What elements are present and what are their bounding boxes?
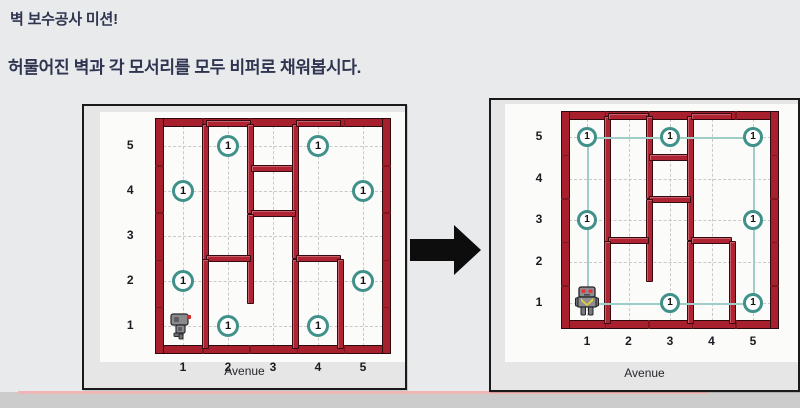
maze-wall-horizontal xyxy=(691,113,733,120)
beeper[interactable]: 1 xyxy=(352,180,374,202)
street-tick: 3 xyxy=(122,228,138,242)
beeper[interactable]: 1 xyxy=(307,135,329,157)
beeper[interactable]: 1 xyxy=(660,293,680,313)
karel-world-before: Street Avenue 111111111234554321 xyxy=(82,104,407,390)
wall-brick-mark xyxy=(155,212,164,213)
right-arrow-icon xyxy=(410,222,482,278)
boundary-wall-left xyxy=(561,111,570,328)
avenue-tick: 3 xyxy=(265,360,281,374)
beeper[interactable]: 1 xyxy=(172,180,194,202)
boundary-wall-top xyxy=(155,118,391,127)
maze-wall-vertical xyxy=(687,116,694,241)
wall-brick-mark xyxy=(561,198,570,199)
transition-arrow xyxy=(410,222,482,278)
avenue-tick: 4 xyxy=(310,360,326,374)
maze-wall-horizontal xyxy=(296,120,341,127)
wall-brick-mark xyxy=(770,198,779,199)
avenue-tick: 2 xyxy=(621,334,637,348)
boundary-wall-right xyxy=(382,118,391,354)
avenue-tick: 1 xyxy=(579,334,595,348)
street-tick: 1 xyxy=(122,318,138,332)
robot-side-icon xyxy=(170,312,196,340)
maze-wall-horizontal xyxy=(691,237,733,244)
wall-brick-mark xyxy=(561,285,570,286)
maze-wall-horizontal xyxy=(251,210,296,217)
gridline-horizontal xyxy=(564,179,776,180)
maze-wall-vertical xyxy=(292,124,299,259)
gridline-horizontal xyxy=(564,262,776,263)
wall-brick-mark xyxy=(382,260,391,261)
beeper[interactable]: 1 xyxy=(217,135,239,157)
maze-wall-horizontal xyxy=(649,154,691,161)
maze-wall-horizontal xyxy=(206,255,251,262)
wall-brick-mark xyxy=(155,307,164,308)
wall-brick-mark xyxy=(648,320,649,329)
beeper[interactable]: 1 xyxy=(743,293,763,313)
wall-brick-mark xyxy=(382,212,391,213)
maze-wall-horizontal xyxy=(649,196,691,203)
boundary-wall-left xyxy=(155,118,164,354)
maze-wall-horizontal xyxy=(296,255,341,262)
street-tick: 4 xyxy=(531,171,547,185)
beeper[interactable]: 1 xyxy=(307,315,329,337)
maze-wall-vertical xyxy=(292,259,299,349)
street-tick: 2 xyxy=(531,254,547,268)
wall-brick-mark xyxy=(249,345,250,354)
robot-front-icon xyxy=(575,286,599,316)
maze-wall-horizontal xyxy=(206,120,251,127)
beeper[interactable]: 1 xyxy=(172,270,194,292)
street-tick: 5 xyxy=(531,129,547,143)
page-title: 벽 보수공사 미션! xyxy=(10,8,118,29)
wall-brick-mark xyxy=(561,242,570,243)
avenue-tick: 3 xyxy=(662,334,678,348)
bottom-strip xyxy=(0,392,800,408)
wall-brick-mark xyxy=(382,307,391,308)
street-tick: 2 xyxy=(122,273,138,287)
axis-label-avenue-right: Avenue xyxy=(491,366,798,380)
maze-wall-horizontal xyxy=(608,237,650,244)
maze-wall-vertical xyxy=(337,259,344,349)
street-tick: 1 xyxy=(531,295,547,309)
avenue-tick: 5 xyxy=(745,334,761,348)
avenue-tick: 1 xyxy=(175,360,191,374)
maze-wall-vertical xyxy=(687,241,694,324)
wall-brick-mark xyxy=(770,155,779,156)
robot-karel[interactable] xyxy=(575,286,599,316)
boundary-wall-bottom xyxy=(561,320,778,329)
beeper[interactable]: 1 xyxy=(577,127,597,147)
robot-karel[interactable] xyxy=(170,312,196,340)
beeper[interactable]: 1 xyxy=(352,270,374,292)
maze-wall-vertical xyxy=(604,241,611,324)
beeper[interactable]: 1 xyxy=(217,315,239,337)
beeper[interactable]: 1 xyxy=(743,127,763,147)
avenue-tick: 4 xyxy=(704,334,720,348)
beeper[interactable]: 1 xyxy=(743,210,763,230)
wall-brick-mark xyxy=(735,111,736,120)
wall-brick-mark xyxy=(770,242,779,243)
street-tick: 5 xyxy=(122,138,138,152)
street-tick: 3 xyxy=(531,212,547,226)
wall-brick-mark xyxy=(770,285,779,286)
street-tick: 4 xyxy=(122,183,138,197)
maze-wall-vertical xyxy=(202,259,209,349)
wall-brick-mark xyxy=(155,165,164,166)
grid-area-before: 111111111234554321 xyxy=(100,112,405,362)
boundary-wall-right xyxy=(770,111,779,328)
gridline-horizontal xyxy=(158,236,388,237)
maze-wall-vertical xyxy=(729,241,736,324)
wall-brick-mark xyxy=(155,260,164,261)
karel-world-after: Street Avenue 11111111234554321 xyxy=(489,98,800,392)
beeper[interactable]: 1 xyxy=(577,210,597,230)
avenue-tick: 2 xyxy=(220,360,236,374)
wall-brick-mark xyxy=(561,155,570,156)
gridline-horizontal xyxy=(158,146,388,147)
page-subtitle: 허물어진 벽과 각 모서리를 모두 비퍼로 채워봅시다. xyxy=(8,53,361,78)
maze-wall-horizontal xyxy=(251,165,296,172)
boundary-wall-bottom xyxy=(155,345,391,354)
wall-brick-mark xyxy=(382,165,391,166)
avenue-tick: 5 xyxy=(355,360,371,374)
grid-area-after: 11111111234554321 xyxy=(505,104,798,362)
beeper[interactable]: 1 xyxy=(660,127,680,147)
maze-wall-horizontal xyxy=(608,113,650,120)
boundary-wall-top xyxy=(561,111,778,120)
wall-brick-mark xyxy=(344,118,345,127)
